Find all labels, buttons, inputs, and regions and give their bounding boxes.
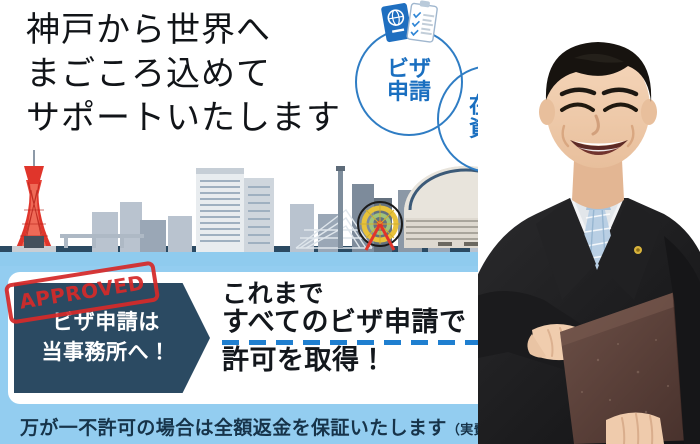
- guarantee-main: 万が一不許可の場合は全額返金を保証いたします: [20, 417, 447, 439]
- badge-label-visa: ビザ 申請: [387, 59, 431, 105]
- headline-copy: 神戸から世界へ まごころ込めて サポートいたします: [26, 8, 386, 141]
- visa-service-banner: 神戸から世界へ まごころ込めて サポートいたします ビザ 申請 在留 資格: [0, 0, 700, 444]
- businessman-photo: [478, 0, 700, 444]
- passport-clipboard-icon: [378, 0, 444, 48]
- arrow-callout-text: ビザ申請は 当事務所へ！: [42, 308, 183, 368]
